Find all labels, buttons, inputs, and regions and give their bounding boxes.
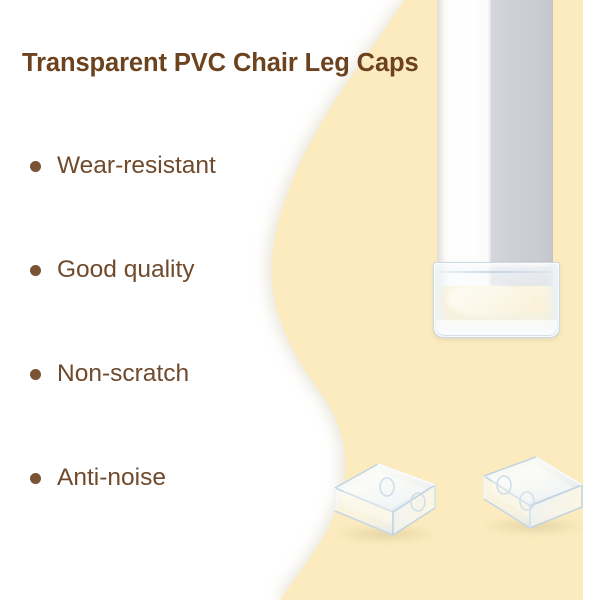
bullet-dot-icon — [30, 161, 41, 172]
list-item: Anti-noise — [30, 458, 216, 498]
list-item: Wear-resistant — [30, 146, 216, 186]
chair-leg-left-shading — [437, 0, 444, 286]
list-item: Non-scratch — [30, 354, 216, 394]
clear-cap-left — [330, 458, 440, 540]
list-item: Good quality — [30, 250, 216, 290]
fitted-cap-highlight — [447, 284, 533, 318]
clear-cap-left-glyph — [330, 458, 440, 540]
bullet-dot-icon — [30, 369, 41, 380]
feature-list: Wear-resistant Good quality Non-scratch … — [30, 146, 216, 498]
clear-cap-fitted-on-leg — [433, 262, 560, 338]
fitted-cap-base — [436, 320, 557, 336]
page-title: Transparent PVC Chair Leg Caps — [22, 49, 452, 77]
chair-leg-corner-edge — [487, 0, 491, 286]
product-banner: Transparent PVC Chair Leg Caps Wear-resi… — [0, 0, 600, 600]
clear-cap-right-glyph — [478, 450, 588, 532]
bullet-dot-icon — [30, 473, 41, 484]
bullet-dot-icon — [30, 265, 41, 276]
feature-label: Wear-resistant — [57, 154, 216, 179]
white-square-chair-leg — [437, 0, 553, 286]
clear-cap-right — [478, 450, 588, 532]
right-edge-margin — [583, 0, 600, 600]
fitted-cap-rim-line — [440, 271, 553, 273]
feature-label: Anti-noise — [57, 466, 166, 491]
feature-label: Non-scratch — [57, 362, 189, 387]
chair-leg-side-face — [490, 0, 553, 286]
feature-label: Good quality — [57, 258, 195, 283]
chair-leg-front-face — [437, 0, 490, 286]
